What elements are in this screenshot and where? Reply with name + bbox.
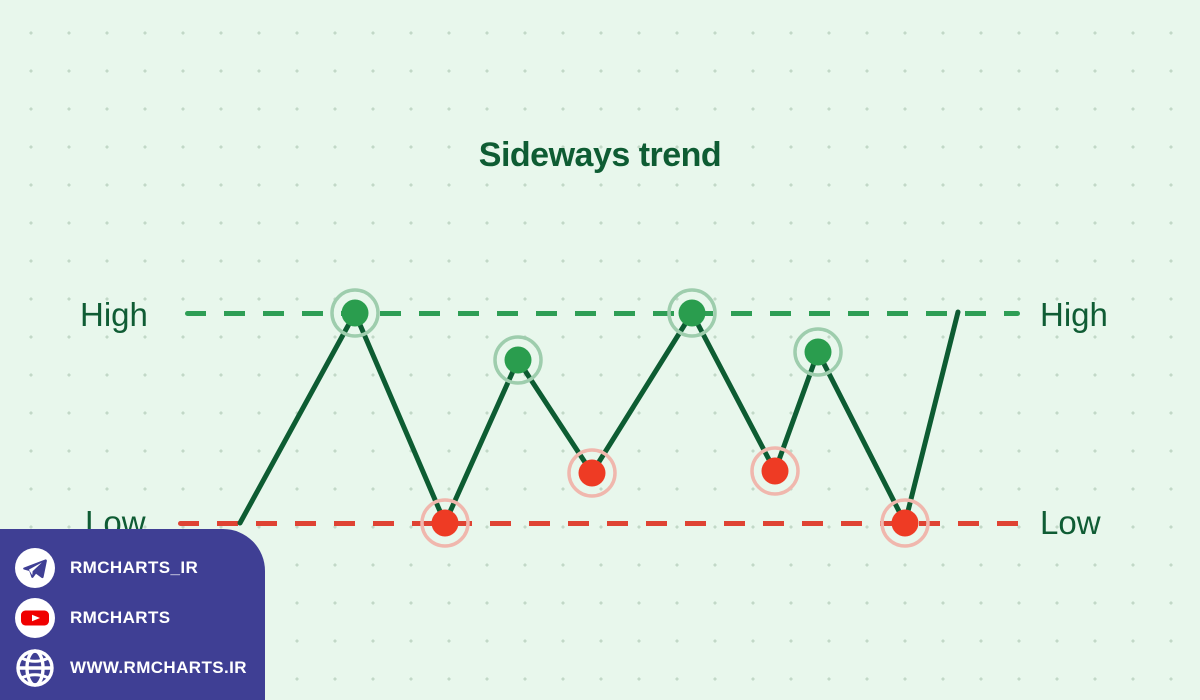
watermark-row-telegram[interactable]: RMCHARTS_IR xyxy=(14,543,265,593)
watermark-row-website[interactable]: WWW.RMCHARTS.IR xyxy=(14,643,265,693)
low-point-marker[interactable] xyxy=(579,460,606,487)
high-point-marker[interactable] xyxy=(805,339,832,366)
low-point-marker[interactable] xyxy=(432,510,459,537)
high-point-marker[interactable] xyxy=(342,300,369,327)
globe-icon xyxy=(14,647,56,689)
youtube-icon xyxy=(14,597,56,639)
watermark-label-telegram: RMCHARTS_IR xyxy=(70,558,198,578)
low-point-marker[interactable] xyxy=(892,510,919,537)
data-point-markers xyxy=(332,290,928,546)
watermark-row-youtube[interactable]: RMCHARTS xyxy=(14,593,265,643)
telegram-icon xyxy=(14,547,56,589)
chart-canvas: Sideways trend High High Low Low RMCHART… xyxy=(0,0,1200,700)
watermark-label-website: WWW.RMCHARTS.IR xyxy=(70,658,247,678)
price-line xyxy=(240,312,958,523)
low-point-marker[interactable] xyxy=(762,458,789,485)
high-point-marker[interactable] xyxy=(505,347,532,374)
watermark-panel: RMCHARTS_IR RMCHARTS xyxy=(0,529,265,700)
watermark-label-youtube: RMCHARTS xyxy=(70,608,170,628)
high-point-marker[interactable] xyxy=(679,300,706,327)
